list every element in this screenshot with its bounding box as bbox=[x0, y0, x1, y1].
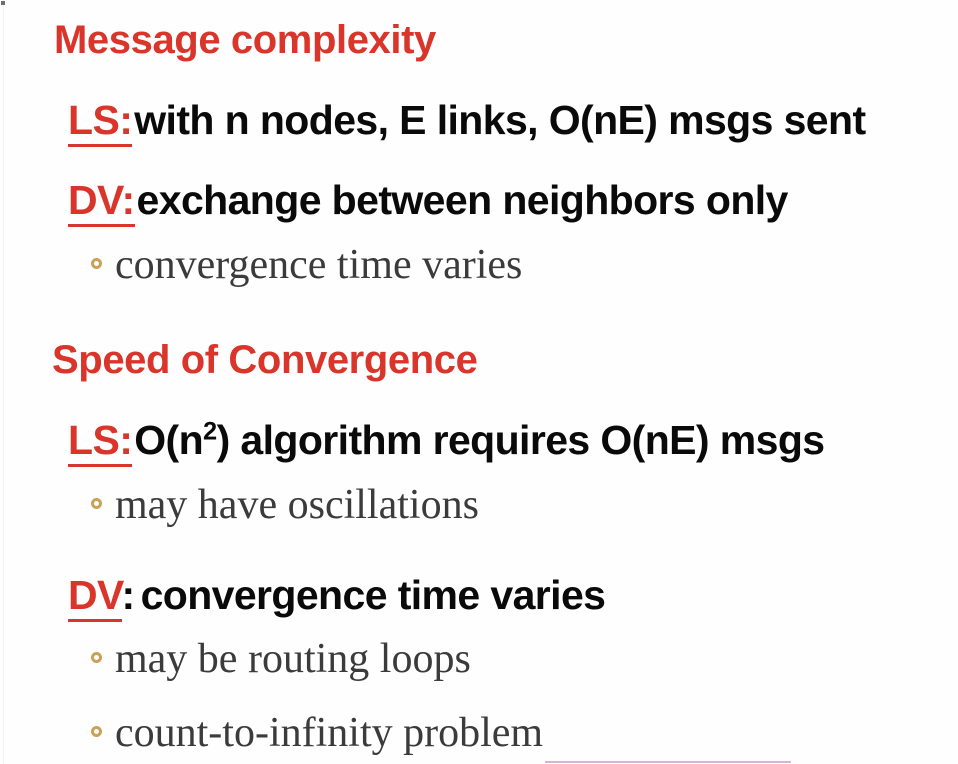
protocol-tag-colon: : bbox=[122, 572, 135, 618]
ring-bullet-icon bbox=[91, 726, 102, 737]
sub-bullet-may-be-routing-loops-text: may be routing loops bbox=[115, 638, 471, 680]
bullet-ls-speed-of-convergence: LS:O(n2) algorithm requires O(nE) msgs bbox=[68, 420, 824, 461]
bullet-ls-speed-post: ) algorithm requires O(nE) msgs bbox=[217, 417, 825, 463]
protocol-tag-dv: DV bbox=[68, 572, 122, 622]
protocol-tag-ls: LS: bbox=[68, 417, 132, 467]
sub-bullet-may-have-oscillations: may have oscillations bbox=[91, 484, 479, 526]
ring-bullet-icon bbox=[91, 652, 102, 663]
slide-left-edge-artifact bbox=[3, 0, 4, 764]
sub-bullet-may-be-routing-loops: may be routing loops bbox=[91, 638, 471, 680]
sub-bullet-convergence-time-varies-1-text: convergence time varies bbox=[115, 244, 522, 286]
ring-bullet-icon bbox=[91, 498, 102, 509]
slide-canvas: Message complexity LS:with n nodes, E li… bbox=[0, 0, 958, 764]
section-heading-message-complexity: Message complexity bbox=[54, 20, 436, 60]
sub-bullet-count-to-infinity-problem-text: count-to-infinity problem bbox=[115, 712, 543, 754]
section-heading-speed-of-convergence: Speed of Convergence bbox=[52, 340, 477, 380]
bullet-ls-message-complexity-text: with n nodes, E links, O(nE) msgs sent bbox=[134, 97, 865, 143]
protocol-tag-ls: LS: bbox=[68, 97, 132, 147]
corner-speck-artifact bbox=[1, 1, 5, 5]
protocol-tag-dv: DV: bbox=[68, 177, 135, 227]
sub-bullet-count-to-infinity-problem: count-to-infinity problem bbox=[91, 712, 543, 754]
bullet-dv-speed-of-convergence: DV:convergence time varies bbox=[68, 575, 605, 616]
bullet-ls-message-complexity: LS:with n nodes, E links, O(nE) msgs sen… bbox=[68, 100, 866, 141]
ring-bullet-icon bbox=[91, 258, 102, 269]
bullet-dv-message-complexity-text: exchange between neighbors only bbox=[137, 177, 788, 223]
bullet-dv-speed-text: convergence time varies bbox=[141, 572, 606, 618]
bullet-dv-message-complexity: DV:exchange between neighbors only bbox=[68, 180, 788, 221]
sub-bullet-convergence-time-varies-1: convergence time varies bbox=[91, 244, 522, 286]
bottom-divider-rule bbox=[545, 761, 791, 763]
exponent-two: 2 bbox=[203, 417, 217, 445]
sub-bullet-may-have-oscillations-text: may have oscillations bbox=[115, 484, 479, 526]
bullet-ls-speed-pre: O(n bbox=[134, 417, 203, 463]
